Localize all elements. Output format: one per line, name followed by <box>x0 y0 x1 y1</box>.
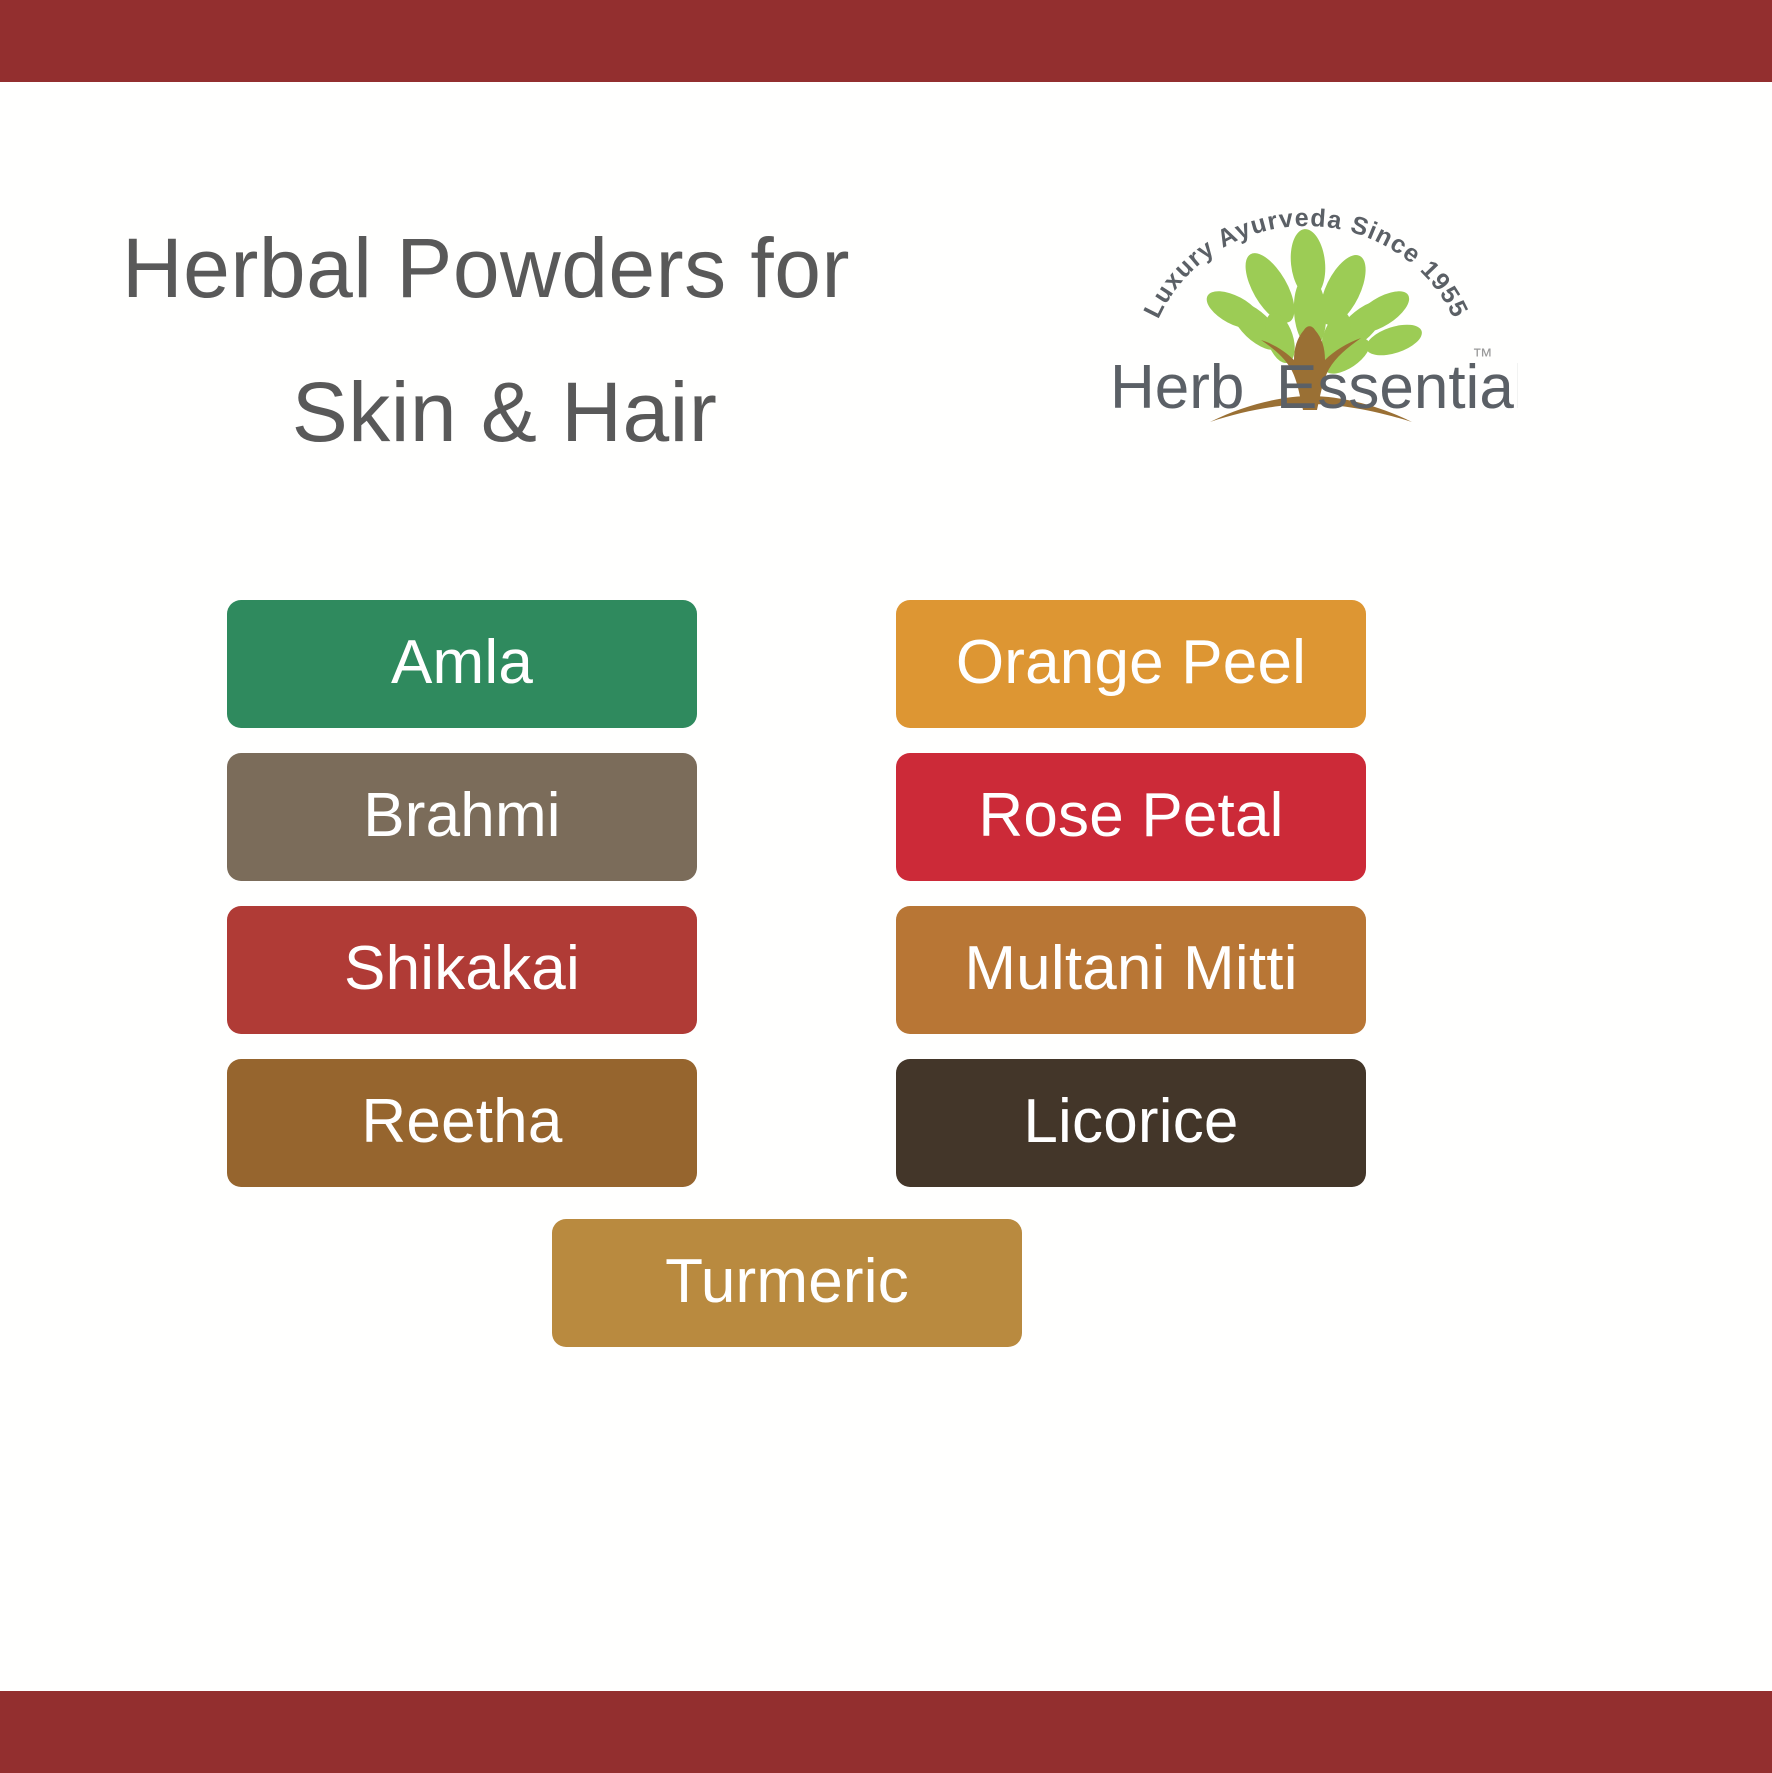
chip-label: Brahmi <box>363 780 561 851</box>
chip-label: Licorice <box>1023 1086 1238 1157</box>
chip-shikakai[interactable]: Shikakai <box>227 906 697 1034</box>
chip-label: Orange Peel <box>956 627 1306 698</box>
chip-licorice[interactable]: Licorice <box>896 1059 1366 1187</box>
chip-label: Amla <box>391 627 533 698</box>
chip-label: Shikakai <box>344 933 580 1004</box>
powder-chip-grid: Amla Brahmi Shikakai Reetha Orange Peel … <box>0 0 1772 1773</box>
chip-label: Multani Mitti <box>964 933 1297 1004</box>
chip-orange-peel[interactable]: Orange Peel <box>896 600 1366 728</box>
chip-reetha[interactable]: Reetha <box>227 1059 697 1187</box>
poster-canvas: Herbal Powders for Skin & Hair Luxury Ay… <box>0 0 1772 1773</box>
chip-brahmi[interactable]: Brahmi <box>227 753 697 881</box>
chip-turmeric[interactable]: Turmeric <box>552 1219 1022 1347</box>
chip-rose-petal[interactable]: Rose Petal <box>896 753 1366 881</box>
chip-amla[interactable]: Amla <box>227 600 697 728</box>
chip-multani-mitti[interactable]: Multani Mitti <box>896 906 1366 1034</box>
chip-label: Turmeric <box>665 1246 909 1317</box>
chip-label: Rose Petal <box>978 780 1283 851</box>
chip-label: Reetha <box>361 1086 562 1157</box>
